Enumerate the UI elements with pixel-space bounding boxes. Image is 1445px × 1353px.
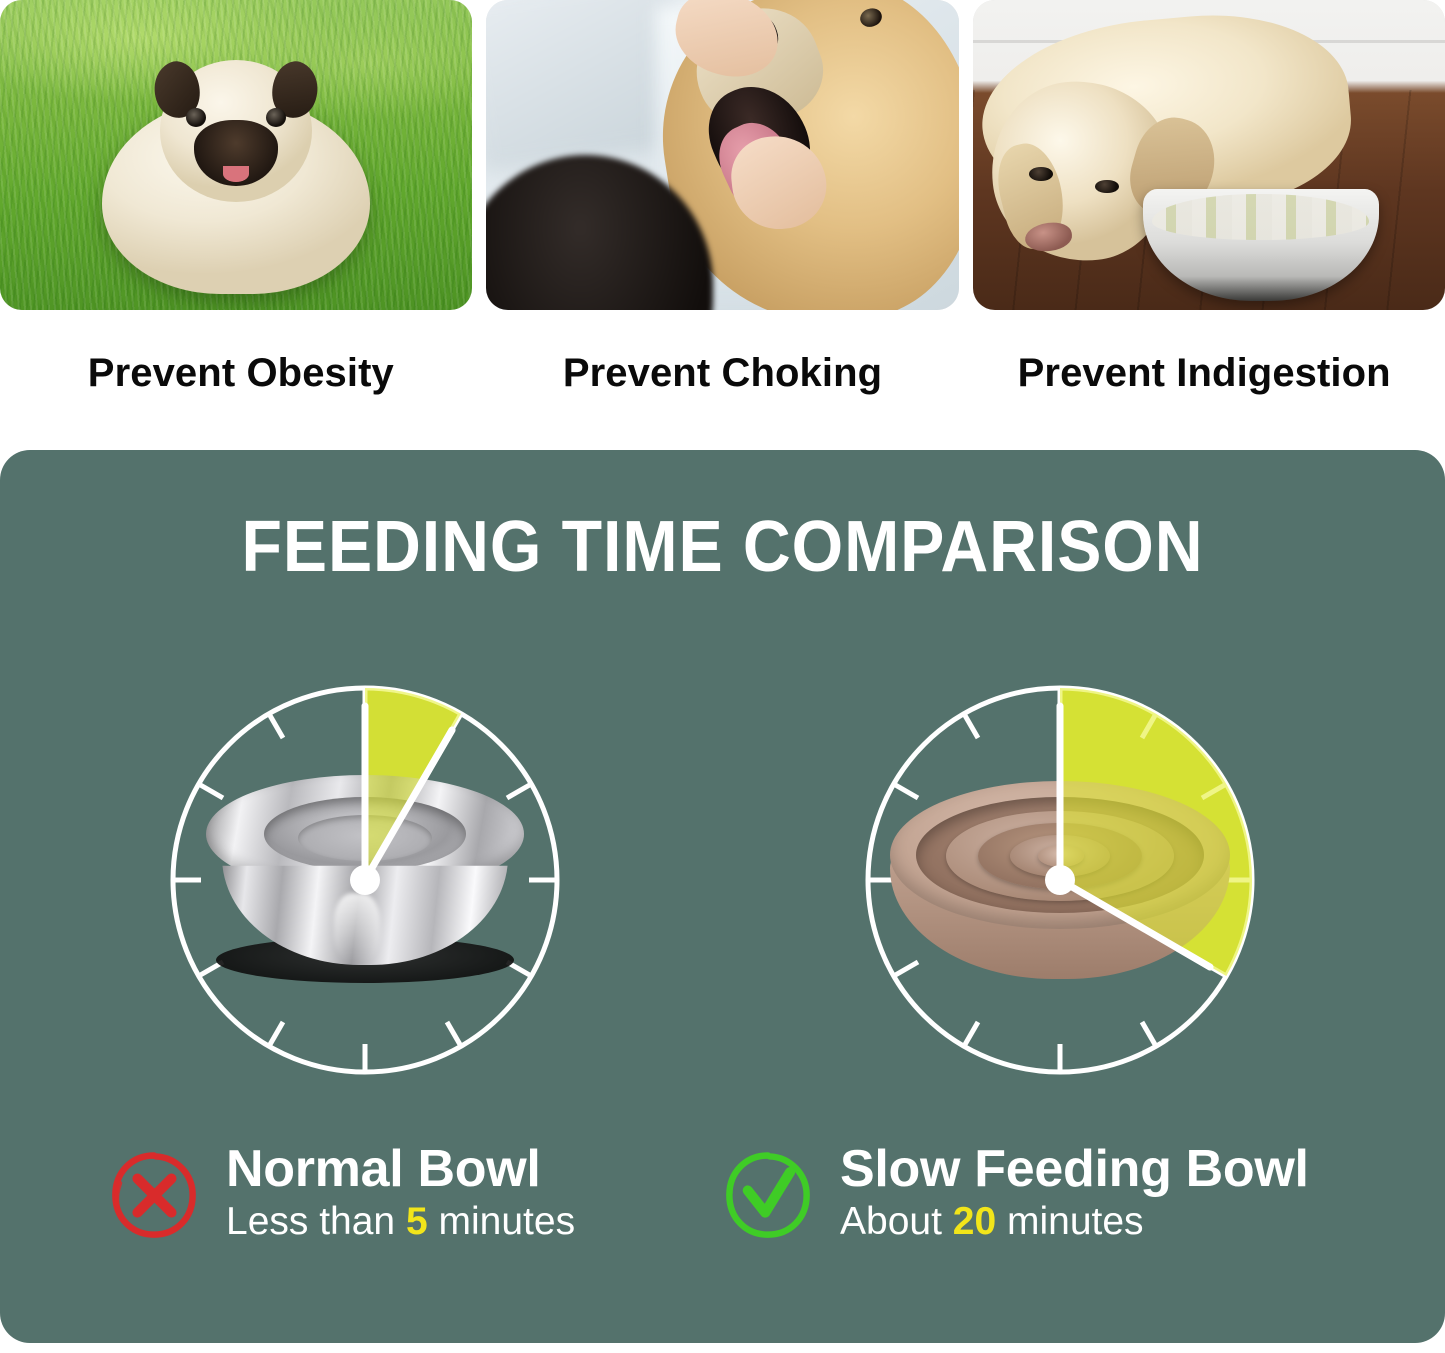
benefit-captions: Prevent Obesity Prevent Choking Prevent … bbox=[0, 318, 1445, 428]
pug-tongue bbox=[223, 166, 249, 182]
circled-x-icon bbox=[108, 1150, 200, 1242]
legend-sub-before-slow: About bbox=[840, 1200, 953, 1243]
pug-eye-left bbox=[186, 108, 206, 127]
caption-prevent-choking: Prevent Choking bbox=[482, 318, 964, 428]
caption-prevent-obesity: Prevent Obesity bbox=[0, 318, 482, 428]
legend-text-slow: Slow Feeding Bowl About 20 minutes bbox=[840, 1142, 1309, 1244]
legend-slow-feeding-bowl: Slow Feeding Bowl About 20 minutes bbox=[722, 1142, 1309, 1244]
benefit-photo-strip bbox=[0, 0, 1445, 310]
legend-title-slow: Slow Feeding Bowl bbox=[840, 1142, 1309, 1196]
clock-slow-feeding-bowl bbox=[850, 670, 1270, 1090]
legend-subtitle-slow: About 20 minutes bbox=[840, 1199, 1309, 1244]
legend-subtitle-normal: Less than 5 minutes bbox=[226, 1199, 575, 1244]
feeding-time-comparison-panel: FEEDING TIME COMPARISON bbox=[0, 450, 1445, 1343]
pug-muzzle bbox=[194, 120, 278, 186]
clock-dial-normal bbox=[155, 670, 575, 1090]
legend-sub-number-slow: 20 bbox=[953, 1200, 996, 1243]
legend-text-normal: Normal Bowl Less than 5 minutes bbox=[226, 1142, 575, 1244]
retriever-eye bbox=[858, 5, 884, 29]
pug-eye-right bbox=[266, 108, 286, 127]
circled-check-icon bbox=[722, 1150, 814, 1242]
caption-prevent-indigestion: Prevent Indigestion bbox=[963, 318, 1445, 428]
legend-normal-bowl: Normal Bowl Less than 5 minutes bbox=[108, 1142, 575, 1244]
labrador-eye-left bbox=[1029, 167, 1053, 181]
legend-sub-after-slow: minutes bbox=[996, 1200, 1143, 1243]
legend-title-normal: Normal Bowl bbox=[226, 1142, 575, 1196]
legend-sub-after-normal: minutes bbox=[428, 1200, 575, 1243]
page-title: FEEDING TIME COMPARISON bbox=[58, 506, 1387, 588]
clock-normal-bowl bbox=[155, 670, 575, 1090]
photo-card-prevent-choking bbox=[486, 0, 958, 310]
clock-dial-slow bbox=[850, 670, 1270, 1090]
photo-card-prevent-indigestion bbox=[973, 0, 1445, 310]
legend-sub-number-normal: 5 bbox=[406, 1200, 428, 1243]
pug-head bbox=[160, 60, 312, 202]
legend-sub-before-normal: Less than bbox=[226, 1200, 406, 1243]
photo-card-prevent-obesity bbox=[0, 0, 472, 310]
